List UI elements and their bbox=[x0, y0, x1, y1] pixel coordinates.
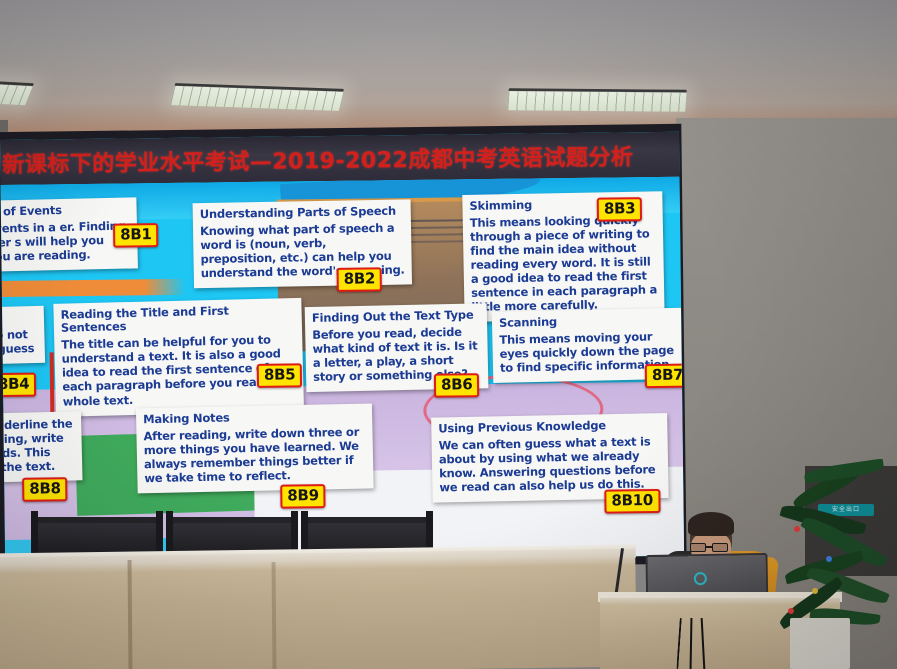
projection-screen: 新课标下的学业水平考试—2019-2022成都中考英语试题分析 ♪ ♫ ✗ e … bbox=[0, 132, 684, 564]
label-tag-8b5: 8B5 bbox=[257, 363, 303, 388]
content-card-8b4: aning ething o not you he guess bbox=[1, 306, 46, 366]
presenter-hair bbox=[688, 512, 734, 536]
string-light bbox=[812, 588, 818, 594]
glasses-icon bbox=[690, 543, 731, 552]
content-card-8b8: tes or underline the fter reading, write… bbox=[1, 411, 83, 483]
plant-pot bbox=[790, 618, 850, 669]
string-light bbox=[794, 526, 800, 532]
label-tag-8b1: 8B1 bbox=[113, 223, 159, 248]
laptop-logo-icon bbox=[694, 572, 707, 585]
content-card-8b5: Reading the Title and First Sentences Th… bbox=[53, 298, 304, 417]
label-tag-8b2: 8B2 bbox=[337, 267, 383, 292]
ceiling-light-3 bbox=[507, 88, 686, 112]
label-tag-8b6: 8B6 bbox=[434, 373, 480, 398]
label-tag-8b8: 8B8 bbox=[22, 477, 68, 502]
front-desk bbox=[0, 549, 637, 669]
content-card-8b9: Making Notes After reading, write down t… bbox=[136, 403, 374, 493]
slide-bg-red-stroke bbox=[50, 352, 55, 412]
label-tag-8b7: 8B7 bbox=[645, 364, 684, 389]
label-tag-8b4: 8B4 bbox=[1, 373, 37, 398]
string-light bbox=[826, 556, 832, 562]
classroom-photo-scene: 安全出口 新课标下的学业水平考试—2019-2022成都中考英语试题分析 ♪ ♫… bbox=[0, 0, 897, 669]
label-tag-8b10: 8B10 bbox=[604, 489, 660, 514]
string-light bbox=[788, 608, 794, 614]
label-tag-8b3: 8B3 bbox=[597, 197, 643, 222]
page-title: 新课标下的学业水平考试—2019-2022成都中考英语试题分析 bbox=[0, 139, 633, 179]
